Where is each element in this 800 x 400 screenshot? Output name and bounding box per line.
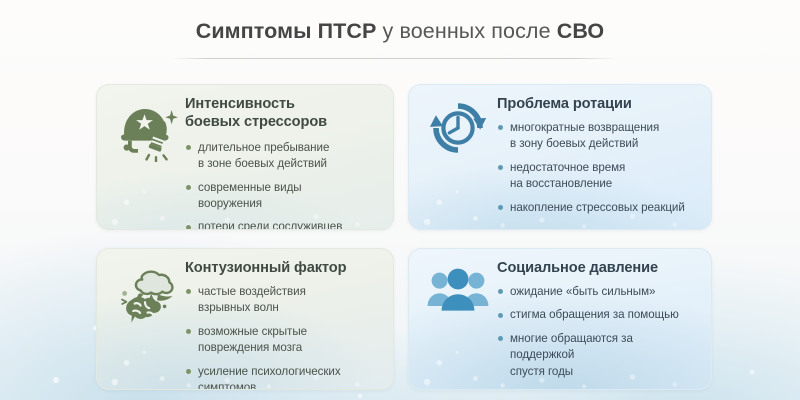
header: Симптомы ПТСР у военных после СВО	[0, 0, 800, 72]
card-title: Контузионный фактор	[185, 260, 381, 278]
list-item: накопление стрессовых реакций	[497, 200, 699, 216]
list-item: возможные скрытыеповреждения мозга	[185, 324, 381, 357]
card-bullet-list: длительное пребываниев зоне боевых дейст…	[185, 140, 381, 230]
military-helmet-icon	[107, 96, 185, 219]
list-item: стигма обращения за помощью	[497, 307, 699, 323]
card-concussion[interactable]: Контузионный фактор частые воздействиявз…	[96, 248, 394, 390]
people-group-icon	[419, 260, 497, 379]
list-item: усиление психологическихсимптомов	[185, 364, 381, 390]
clock-rotation-icon	[419, 96, 497, 219]
page-title-part-3: СВО	[557, 19, 605, 43]
card-body: Социальное давление ожидание «быть сильн…	[497, 260, 701, 379]
card-intensity[interactable]: Интенсивность боевых стрессоров длительн…	[96, 84, 394, 230]
card-social-pressure[interactable]: Социальное давление ожидание «быть сильн…	[408, 248, 712, 390]
title-divider	[172, 58, 618, 59]
card-title: Интенсивность боевых стрессоров	[185, 96, 381, 132]
card-rotation[interactable]: Проблема ротации многократные возвращени…	[408, 84, 712, 230]
brain-blast-icon	[107, 260, 185, 379]
card-grid: Интенсивность боевых стрессоров длительн…	[96, 84, 712, 390]
list-item: потери среди сослуживцев	[185, 219, 381, 230]
list-item: недостаточное времяна восстановление	[497, 160, 699, 193]
page-title-part-1: Симптомы ПТСР	[196, 19, 377, 43]
card-bullet-list: ожидание «быть сильным» стигма обращения…	[497, 284, 699, 380]
page-title: Симптомы ПТСР у военных после СВО	[0, 0, 800, 44]
list-item: современные видывооружения	[185, 180, 381, 213]
card-title: Проблема ротации	[497, 96, 699, 114]
card-bullet-list: многократные возвращенияв зону боевых де…	[497, 120, 699, 216]
card-title: Социальное давление	[497, 260, 699, 278]
card-body: Проблема ротации многократные возвращени…	[497, 96, 701, 219]
list-item: длительное пребываниев зоне боевых дейст…	[185, 140, 381, 173]
card-bullet-list: частые воздействиявзрывных волн возможны…	[185, 284, 381, 390]
page-title-part-2: у военных после	[376, 19, 556, 43]
card-body: Интенсивность боевых стрессоров длительн…	[185, 96, 383, 219]
list-item: многократные возвращенияв зону боевых де…	[497, 120, 699, 153]
list-item: ожидание «быть сильным»	[497, 284, 699, 300]
card-body: Контузионный фактор частые воздействиявз…	[185, 260, 383, 379]
list-item: многие обращаются за поддержкойспустя го…	[497, 331, 699, 380]
list-item: частые воздействиявзрывных волн	[185, 284, 381, 317]
